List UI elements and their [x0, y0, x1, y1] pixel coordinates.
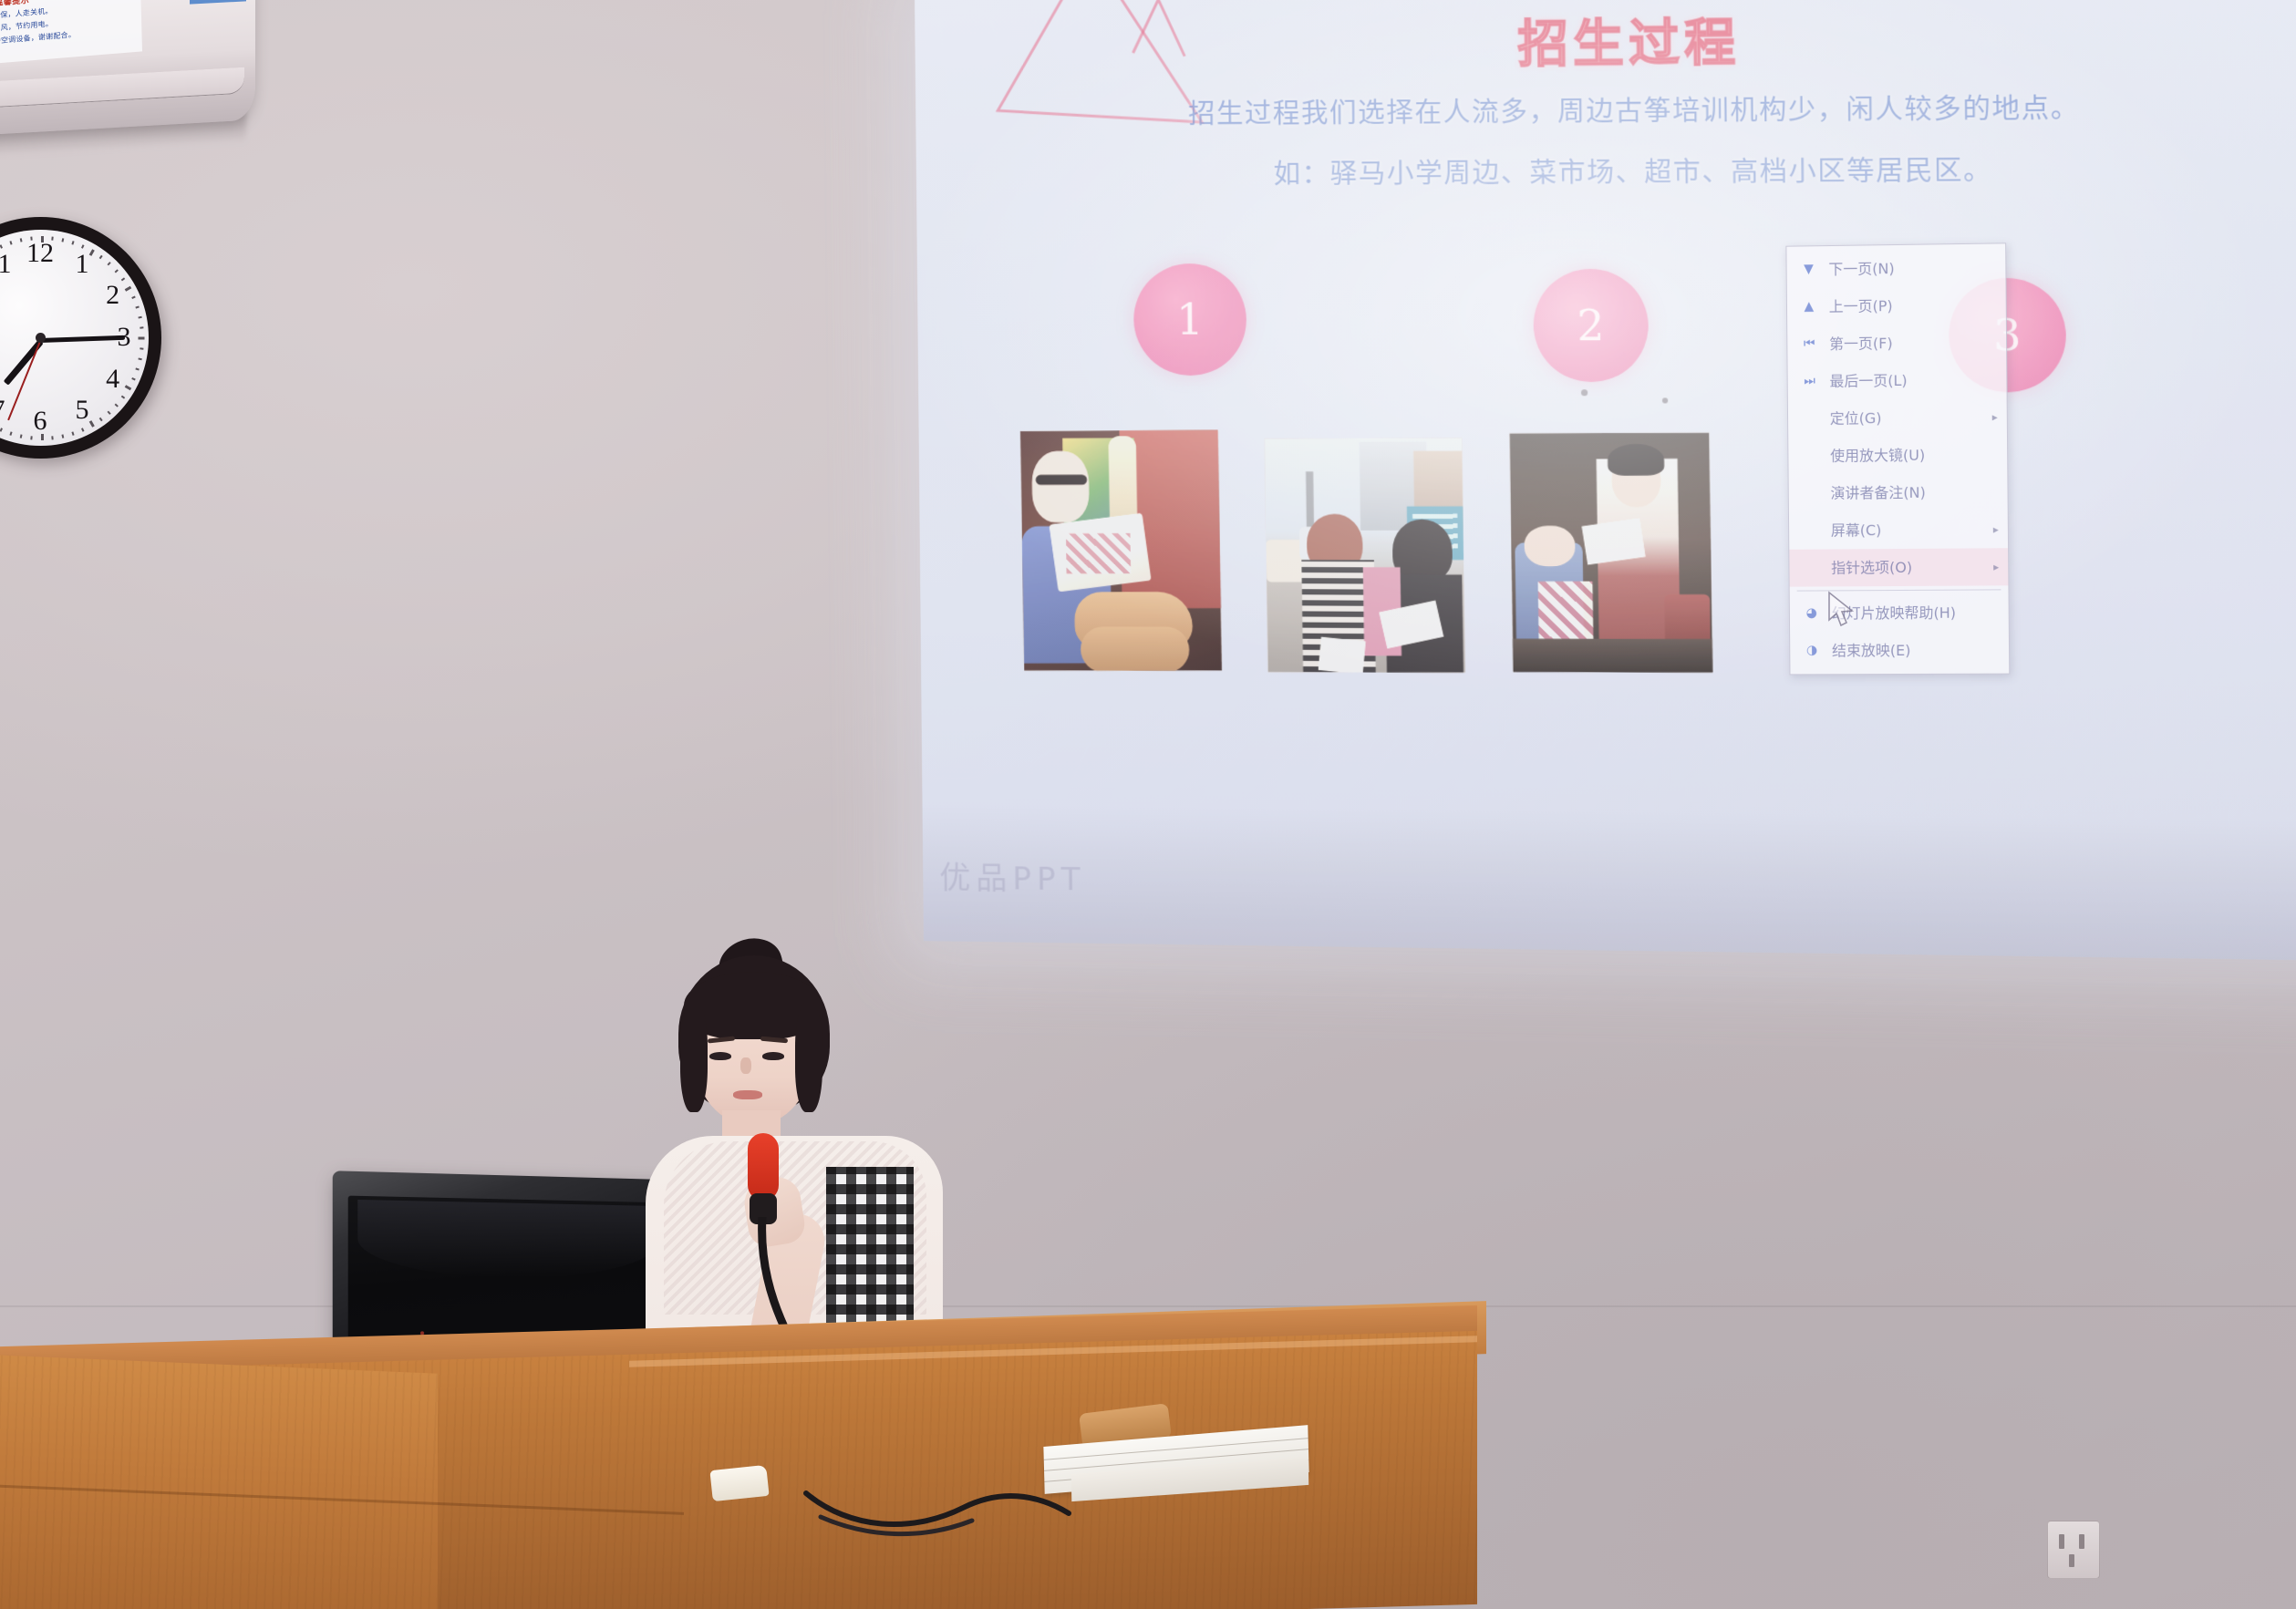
context-menu-item-label: 第一页(F): [1829, 335, 1893, 353]
clock-tick: [120, 395, 124, 398]
skip-forward-icon: ⏭: [1801, 372, 1819, 390]
slide-photo-1: [1020, 430, 1222, 671]
context-menu-item-label: 指针选项(O): [1831, 559, 1912, 577]
slide-body-line-2: 如：驿马小学周边、菜市场、超市、高档小区等居民区。: [916, 147, 2296, 193]
slide-watermark: 优品PPT: [939, 852, 1086, 899]
end-show-icon: ◑: [1803, 642, 1821, 660]
projection-bottom-fade: [923, 804, 2296, 961]
slide-title: 招生过程: [915, 0, 2296, 81]
skip-back-icon: ⏮: [1800, 335, 1818, 354]
clock-tick: [131, 377, 135, 380]
wall-power-outlet[interactable]: [2047, 1521, 2100, 1579]
microphone-cable: [802, 1477, 1094, 1550]
clock-numeral-2: 2: [106, 280, 119, 311]
context-menu-item-3[interactable]: ⏮第一页(F): [1787, 324, 2006, 364]
clock-tick: [135, 367, 139, 370]
presenter-eye-left: [709, 1052, 731, 1060]
clock-tick: [88, 420, 94, 428]
context-menu-item-10[interactable]: ◕幻灯片放映帮助(H): [1790, 593, 2009, 632]
clock-tick: [114, 403, 118, 407]
presenter-hair-side-right: [795, 1003, 822, 1112]
clock-tick: [138, 315, 141, 318]
clock-tick: [9, 241, 12, 244]
context-menu-item-4[interactable]: ⏭最后一页(L): [1788, 361, 2007, 401]
presenter-eye-right: [762, 1052, 784, 1060]
context-menu-item-6[interactable]: 使用放大镜(U): [1788, 436, 2007, 475]
slide-step-badge-1: 1: [1133, 263, 1247, 376]
clock-numeral-4: 4: [106, 364, 119, 395]
triangle-up-icon: ▲: [1800, 298, 1818, 316]
clock-numeral-7: 7: [0, 395, 5, 426]
clock-tick: [71, 431, 74, 435]
clock-tick: [19, 434, 22, 438]
presenter-hair-side-left: [680, 1003, 708, 1112]
clock-tick: [138, 336, 144, 339]
slide-dot-b: [1662, 397, 1668, 403]
slide-dot-a: [1581, 389, 1588, 396]
clock-tick: [51, 436, 53, 439]
wall-mounted-air-conditioner: 空调温馨提示 节能环保，人走关机。 不吹冷风，节约用电。 请爱护空调设备，谢谢配…: [0, 0, 264, 155]
none: [1802, 484, 1820, 502]
clock-tick: [81, 428, 84, 431]
slide-photo-2: [1265, 438, 1465, 672]
slide-photo-3: [1509, 433, 1712, 673]
slide-step-badge-2: 2: [1533, 269, 1649, 382]
classroom-presentation-scene: 空调温馨提示 节能环保，人走关机。 不吹冷风，节约用电。 请爱护空调设备，谢谢配…: [0, 0, 2296, 1609]
context-menu-item-7[interactable]: 演讲者备注(N): [1789, 473, 2008, 512]
clock-numeral-6: 6: [34, 406, 47, 437]
mouse-pointer-icon: [1827, 591, 1858, 631]
clock-tick: [30, 436, 32, 439]
context-menu-item-label: 使用放大镜(U): [1830, 447, 1925, 465]
clock-face: 121234567891011: [0, 230, 149, 446]
context-menu-item-11[interactable]: ◑结束放映(E): [1790, 631, 2009, 669]
context-menu-item-8[interactable]: 屏幕(C)▸: [1789, 511, 2008, 550]
clock-tick: [124, 385, 131, 390]
clock-tick: [98, 254, 102, 258]
triangle-down-icon: ▼: [1799, 261, 1817, 279]
help-icon: ◕: [1803, 604, 1821, 623]
clock-tick: [61, 434, 64, 438]
clock-tick: [61, 238, 64, 242]
podium-wood-grain-side: [0, 1352, 438, 1609]
context-menu-item-label: 下一页(N): [1828, 260, 1894, 278]
powerpoint-slideshow-context-menu[interactable]: ▼下一页(N)▲上一页(P)⏮第一页(F)⏭最后一页(L)定位(G)▸使用放大镜…: [1785, 242, 2010, 675]
clock-tick: [138, 357, 141, 360]
context-menu-item-label: 演讲者备注(N): [1830, 484, 1925, 502]
projected-slide: 招生过程 招生过程我们选择在人流多，周边古筝培训机构少，闲人较多的地点。 如：驿…: [915, 0, 2296, 961]
clock-tick: [19, 238, 22, 242]
context-menu-item-label: 结束放映(E): [1832, 642, 1911, 659]
context-menu-item-9[interactable]: 指针选项(O)▸: [1789, 548, 2008, 586]
none: [1802, 521, 1820, 540]
clock-tick: [140, 347, 143, 349]
tissue: [709, 1465, 769, 1501]
clock-tick: [140, 326, 143, 328]
context-menu-item-label: 定位(G): [1830, 409, 1882, 428]
clock-minute-hand: [40, 335, 124, 342]
clock-tick: [71, 241, 74, 244]
clock-tick: [98, 417, 102, 420]
clock-tick: [107, 262, 110, 265]
clock-tick: [9, 431, 12, 435]
context-menu-item-label: 上一页(P): [1829, 297, 1893, 315]
clock-center-pin: [36, 333, 46, 343]
none: [1801, 409, 1819, 428]
microphone-head: [748, 1133, 779, 1201]
clock-tick: [0, 244, 2, 248]
submenu-arrow-icon: ▸: [1993, 548, 1999, 585]
clock-numeral-12: 12: [26, 238, 54, 269]
clock-numeral-11: 11: [0, 249, 11, 280]
none: [1802, 559, 1820, 577]
clock-tick: [107, 410, 110, 414]
context-menu-item-2[interactable]: ▲上一页(P): [1787, 285, 2006, 325]
clock-tick: [135, 305, 139, 308]
presenter-nose: [740, 1057, 751, 1074]
context-menu-item-1[interactable]: ▼下一页(N): [1786, 248, 2005, 288]
presenter-mouth: [733, 1090, 762, 1099]
clock-tick: [124, 285, 131, 291]
context-menu-item-label: 最后一页(L): [1829, 372, 1907, 390]
clock-tick: [81, 244, 84, 248]
clock-tick: [0, 428, 2, 431]
clock-numeral-5: 5: [76, 395, 89, 426]
clock-tick: [88, 249, 94, 256]
context-menu-item-label: 屏幕(C): [1831, 521, 1882, 539]
context-menu-item-5[interactable]: 定位(G)▸: [1788, 398, 2007, 438]
none: [1801, 447, 1819, 465]
clock-tick: [114, 269, 118, 273]
clock-numeral-1: 1: [76, 249, 89, 280]
clock-tick: [131, 295, 135, 298]
podium-side-panel: [0, 1352, 438, 1609]
clock-tick: [120, 277, 124, 281]
submenu-arrow-icon: ▸: [1993, 511, 1999, 548]
submenu-arrow-icon: ▸: [1992, 398, 1998, 436]
